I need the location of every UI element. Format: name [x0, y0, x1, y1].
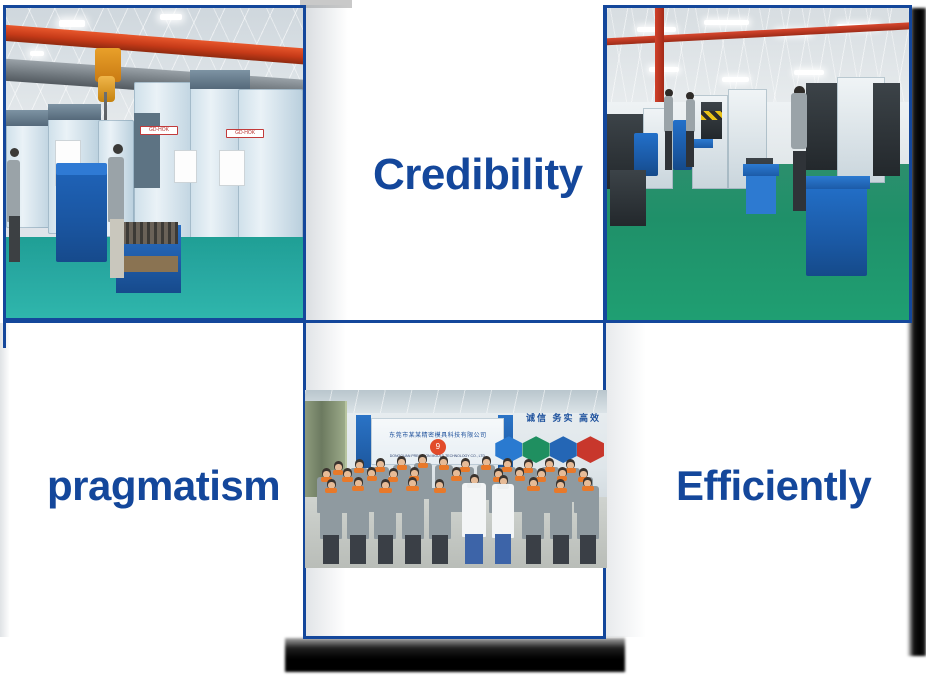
machine-brand-tag: GD-HOK: [140, 126, 179, 136]
cell-gradient-bottom-right: [606, 323, 646, 637]
machine-brand-tag: GD-HOK: [226, 129, 265, 139]
wall-slogan: 诚信 务实 高效: [498, 411, 601, 432]
value-word-credibility: Credibility: [373, 150, 583, 200]
grid-line-horizontal-bottom: [303, 636, 606, 639]
cell-gradient-top-middle: [306, 5, 348, 321]
bottom-edge-shadow: [285, 638, 625, 672]
company-logo: 9: [430, 439, 446, 455]
cell-gradient-bottom-left: [0, 323, 10, 637]
photo-team-group: 东莞市某某精密模具科技有限公司 9 DONGGUAN PRECISION MOU…: [305, 390, 607, 568]
collage-canvas: GD-HOK GD-HOK: [0, 0, 926, 676]
photo-workshop-aisle: [604, 5, 912, 323]
grid-line-left-stub: [3, 320, 6, 348]
photo-machining-hall: GD-HOK GD-HOK: [3, 5, 306, 321]
grid-line-horizontal-mid: [303, 320, 606, 323]
value-word-pragmatism: pragmatism: [47, 462, 280, 510]
value-word-efficiently: Efficiently: [676, 462, 871, 510]
